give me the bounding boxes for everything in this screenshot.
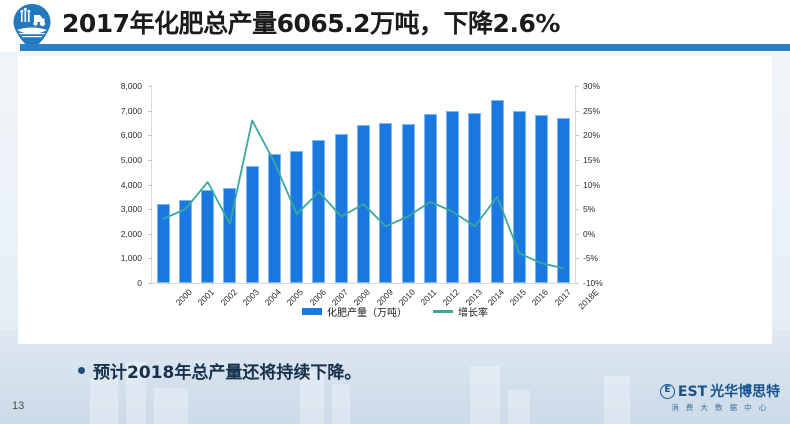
right-tick-label: 10% xyxy=(583,180,623,190)
right-tick-label: 30% xyxy=(583,81,623,91)
right-tick-label: -5% xyxy=(583,253,623,263)
legend-label-output: 化肥产量（万吨） xyxy=(327,304,407,319)
right-tick-label: 20% xyxy=(583,130,623,140)
right-tick-label: 15% xyxy=(583,155,623,165)
right-tick xyxy=(575,135,579,136)
left-tick-label: 3,000 xyxy=(100,204,142,214)
slide-header: 2017年化肥总产量6065.2万吨，下降2.6% xyxy=(0,0,790,52)
right-tick-label: 5% xyxy=(583,204,623,214)
left-tick-label: 6,000 xyxy=(100,130,142,140)
legend-bar-swatch xyxy=(302,308,322,315)
right-tick xyxy=(575,209,579,210)
legend-item-output: 化肥产量（万吨） xyxy=(302,304,407,319)
slide: 2017年化肥总产量6065.2万吨，下降2.6% 01,0002,0003,0… xyxy=(0,0,790,424)
bullet-row: 预计2018年总产量还将持续下降。 xyxy=(78,358,361,383)
left-tick-label: 0 xyxy=(100,278,142,288)
x-axis-line xyxy=(151,283,576,284)
right-tick xyxy=(575,185,579,186)
chart-card: 01,0002,0003,0004,0005,0006,0007,0008,00… xyxy=(18,56,772,344)
footer-logo-name: EST xyxy=(678,385,707,399)
left-tick-label: 1,000 xyxy=(100,253,142,263)
left-tick-label: 5,000 xyxy=(100,155,142,165)
right-tick xyxy=(575,160,579,161)
left-tick xyxy=(148,283,152,284)
growth-rate-line-series xyxy=(152,86,575,283)
right-tick-label: 25% xyxy=(583,106,623,116)
legend-line-swatch xyxy=(433,310,453,313)
left-tick-label: 8,000 xyxy=(100,81,142,91)
right-tick xyxy=(575,283,579,284)
left-tick-label: 2,000 xyxy=(100,229,142,239)
right-tick xyxy=(575,111,579,112)
bullet-text: 预计2018年总产量还将持续下降。 xyxy=(93,358,361,383)
right-tick-label: 0% xyxy=(583,229,623,239)
page-number: 13 xyxy=(12,400,24,412)
footer-logo-brand: 光华博思特 xyxy=(710,385,780,399)
page-title: 2017年化肥总产量6065.2万吨，下降2.6% xyxy=(62,4,560,40)
left-tick-label: 4,000 xyxy=(100,180,142,190)
chart-legend: 化肥产量（万吨） 增长率 xyxy=(18,304,772,319)
right-tick xyxy=(575,86,579,87)
footer-logo: E EST 光华博思特 消 费 大 数 据 中 心 xyxy=(658,384,782,418)
right-tick xyxy=(575,258,579,259)
legend-item-growth: 增长率 xyxy=(433,304,488,319)
legend-label-growth: 增长率 xyxy=(458,304,488,319)
header-rule xyxy=(20,44,790,51)
left-tick-label: 7,000 xyxy=(100,106,142,116)
bullet-dot-icon xyxy=(78,367,85,374)
growth-rate-polyline xyxy=(163,120,564,268)
footer-logo-tagline: 消 费 大 数 据 中 心 xyxy=(658,402,782,413)
footer-logo-mark: E xyxy=(660,384,675,399)
right-tick xyxy=(575,234,579,235)
right-tick-label: -10% xyxy=(583,278,623,288)
